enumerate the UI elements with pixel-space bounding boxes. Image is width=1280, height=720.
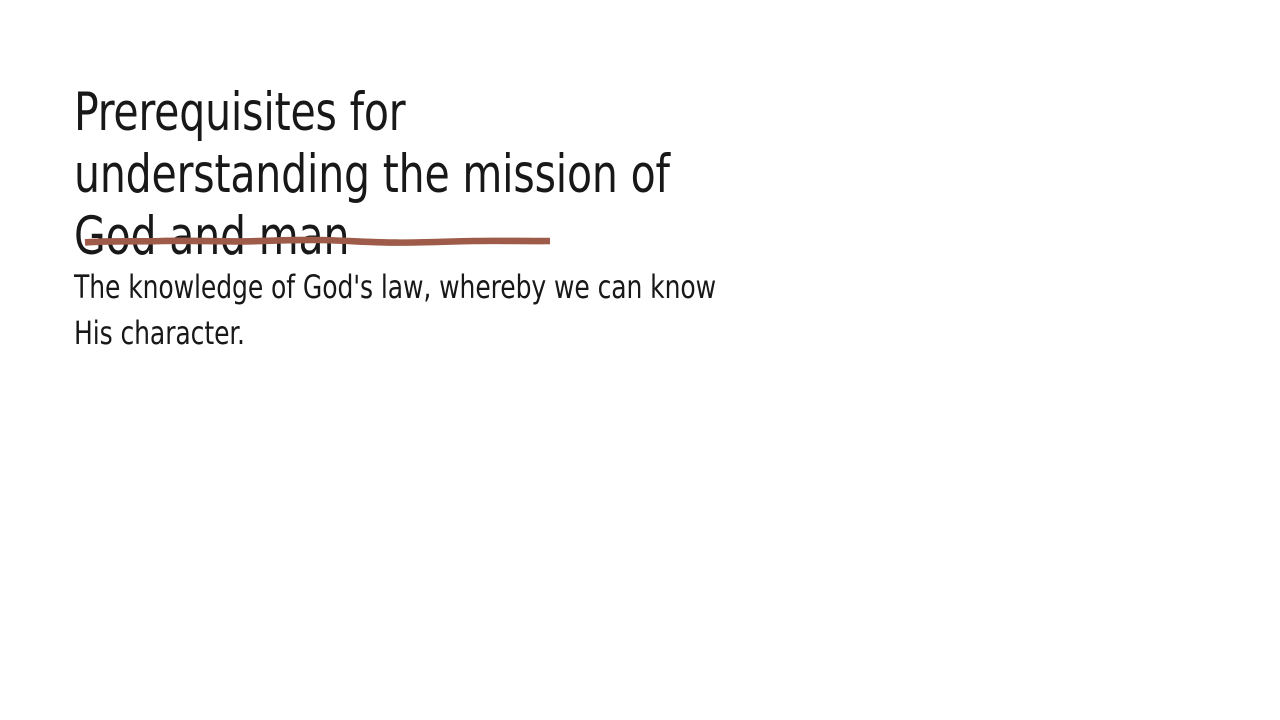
slide-title: Prerequisites for understanding the miss… bbox=[74, 82, 676, 268]
presentation-slide: Prerequisites for understanding the miss… bbox=[0, 0, 1280, 720]
slide-content-placeholder bbox=[74, 370, 1204, 670]
slide-body-text: The knowledge of God's law, whereby we c… bbox=[74, 264, 718, 356]
